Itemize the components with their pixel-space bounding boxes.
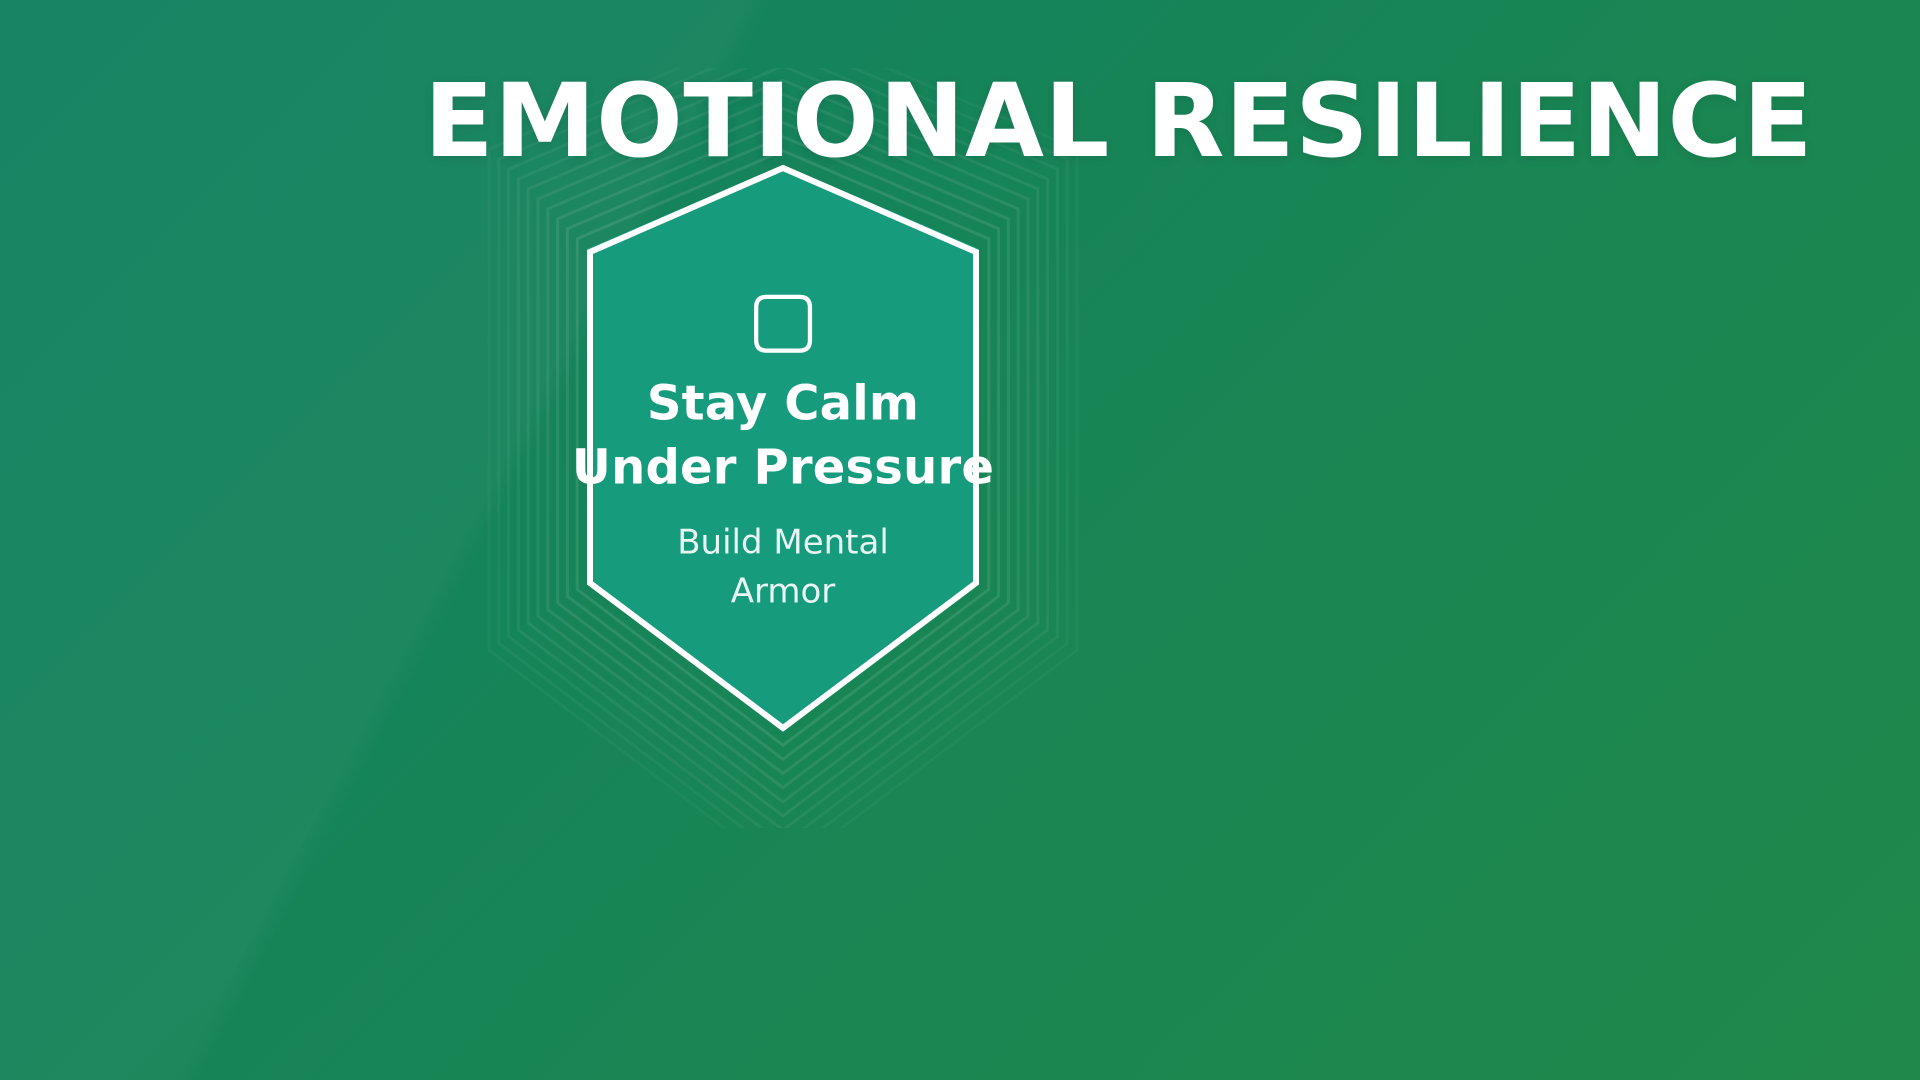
slide-canvas: EMOTIONAL RESILIENCE ▢ Stay Calm Under P… bbox=[0, 0, 1920, 1080]
hexagon-outline bbox=[587, 165, 979, 731]
hexagon-badge: ▢ Stay Calm Under Pressure Build Mental … bbox=[433, 68, 1133, 828]
page-title: EMOTIONAL RESILIENCE bbox=[424, 64, 1813, 180]
